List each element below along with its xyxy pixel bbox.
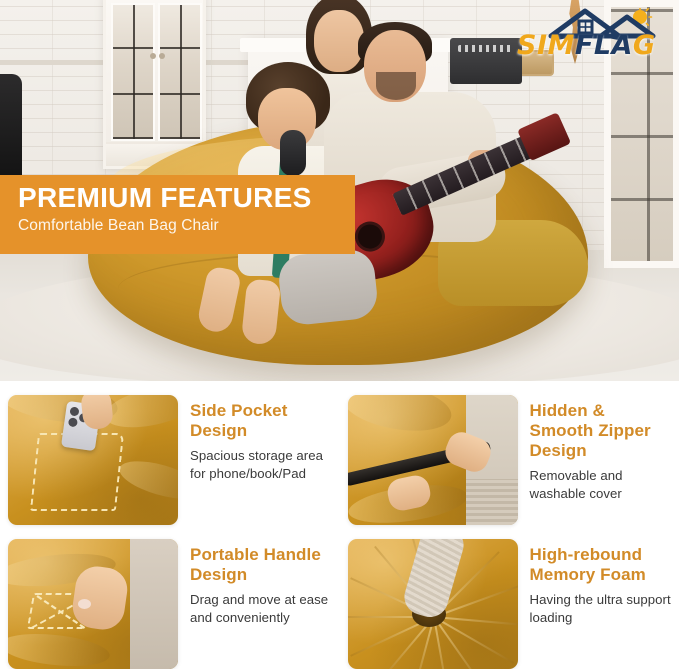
feature-body: Spacious storage area for phone/book/Pad <box>190 447 334 483</box>
hero-image: SIMFLAG PREMIUM FEATURES Comfortable Bea… <box>0 0 679 381</box>
foot-left <box>196 265 243 335</box>
feature-text: Hidden & Smooth Zipper Design Removable … <box>518 389 679 533</box>
feature-heading: Hidden & Smooth Zipper Design <box>530 401 674 461</box>
features-row-top: Side Pocket Design Spacious storage area… <box>0 389 679 533</box>
guitar-neck <box>392 132 541 216</box>
glass-cabinet <box>103 0 206 169</box>
feature-body: Having the ultra support loading <box>530 591 674 627</box>
feature-heading: High-rebound Memory Foam <box>530 545 674 585</box>
feature-body: Removable and washable cover <box>530 467 674 503</box>
features-row-bottom: Portable Handle Design Drag and move at … <box>0 533 679 669</box>
banner-subtitle: Comfortable Bean Bag Chair <box>18 217 355 235</box>
zipper-photo <box>348 395 518 525</box>
feature-text: High-rebound Memory Foam Having the ultr… <box>518 533 679 669</box>
cabinet-glass-left <box>111 3 155 141</box>
feature-card-memory-foam: High-rebound Memory Foam Having the ultr… <box>340 533 679 669</box>
banner-title: PREMIUM FEATURES <box>18 183 355 213</box>
feature-heading: Portable Handle Design <box>190 545 334 585</box>
cabinet-glass-right <box>158 3 202 141</box>
person-background <box>130 539 178 669</box>
product-infographic-page: SIMFLAG PREMIUM FEATURES Comfortable Bea… <box>0 0 679 669</box>
foot-right <box>241 278 282 345</box>
man-beard <box>376 72 416 100</box>
handle-photo <box>8 539 178 669</box>
feature-card-side-pocket: Side Pocket Design Spacious storage area… <box>0 389 340 533</box>
feature-card-handle: Portable Handle Design Drag and move at … <box>0 533 340 669</box>
brand-name-fla: FLA <box>575 30 633 61</box>
cabinet-knobs <box>150 53 166 59</box>
premium-features-banner: PREMIUM FEATURES Comfortable Bean Bag Ch… <box>0 175 355 254</box>
brand-name-sim: SIM <box>517 30 575 61</box>
memory-foam-photo <box>348 539 518 669</box>
feature-body: Drag and move at ease and conveniently <box>190 591 334 627</box>
feature-card-zipper: Hidden & Smooth Zipper Design Removable … <box>340 389 679 533</box>
feature-heading: Side Pocket Design <box>190 401 334 441</box>
features-section: Side Pocket Design Spacious storage area… <box>0 381 679 669</box>
black-chair <box>0 74 22 179</box>
brand-logo: SIMFLAG <box>517 8 669 70</box>
side-pocket-photo <box>8 395 178 525</box>
bare-feet <box>196 262 356 342</box>
fingernail <box>78 599 91 609</box>
feature-text: Side Pocket Design Spacious storage area… <box>178 389 340 533</box>
feature-text: Portable Handle Design Drag and move at … <box>178 533 340 669</box>
grey-pant-leg <box>277 247 380 327</box>
brand-name-g: G <box>633 30 656 61</box>
brand-name: SIMFLAG <box>517 32 669 59</box>
